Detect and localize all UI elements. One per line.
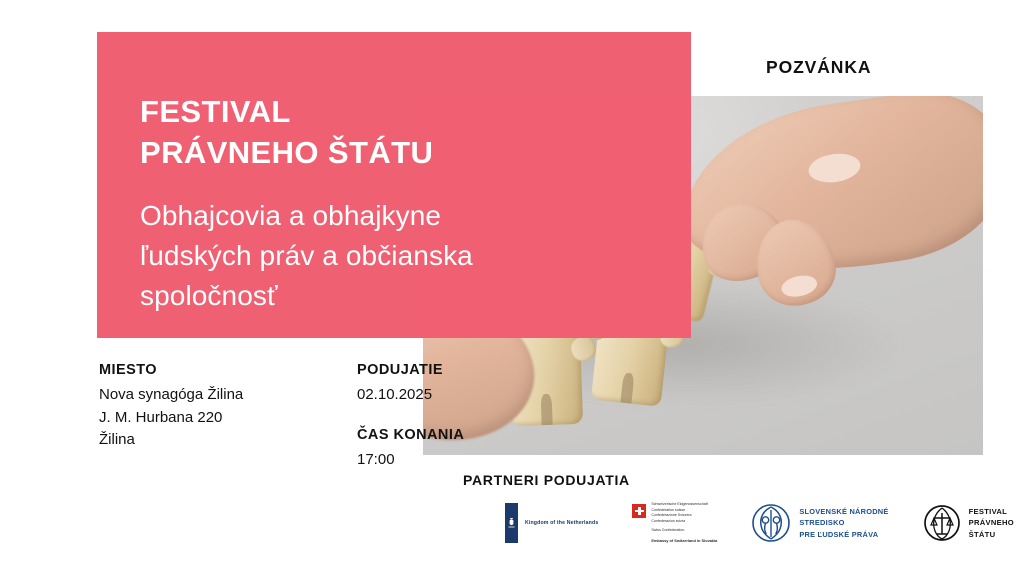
swiss-logo-text: Schweizerische Eidgenossenschaft Confédé… (651, 502, 717, 544)
detail-place-line-1: Nova synagóga Žilina (99, 384, 271, 407)
detail-event-label: PODUJATIE (357, 362, 529, 378)
snslp-line-2: STREDISKO (799, 517, 888, 528)
event-details: MIESTO Nova synagóga Žilina J. M. Hurban… (99, 362, 529, 471)
logo-festival-pravneho-statu: FESTIVAL PRÁVNEHO ŠTÁTU (923, 504, 1014, 542)
netherlands-logo-text: Kingdom of the Netherlands (525, 520, 598, 526)
event-subtitle: Obhajcovia a obhajkyne ľudských práv a o… (140, 196, 680, 317)
snslp-line-1: SLOVENSKÉ NÁRODNÉ (799, 506, 888, 517)
detail-time-value: 17:00 (357, 449, 529, 472)
festival-line-3: ŠTÁTU (969, 529, 1014, 540)
event-title-line-2: PRÁVNEHO ŠTÁTU (140, 133, 680, 174)
detail-place-line-2: J. M. Hurbana 220 (99, 407, 271, 430)
swiss-line-de: Schweizerische Eidgenossenschaft (651, 502, 717, 508)
event-subtitle-line-3: spoločnosť (140, 276, 680, 316)
scales-of-justice-icon (923, 504, 961, 542)
event-title: FESTIVAL PRÁVNEHO ŠTÁTU (140, 92, 680, 174)
detail-place-value: Nova synagóga Žilina J. M. Hurbana 220 Ž… (99, 384, 271, 452)
detail-event-value: 02.10.2025 (357, 384, 529, 407)
invitation-label: POZVÁNKA (766, 57, 871, 78)
festival-logo-text: FESTIVAL PRÁVNEHO ŠTÁTU (969, 506, 1014, 540)
detail-place-label: MIESTO (99, 362, 271, 378)
detail-spacer (357, 407, 529, 427)
headline-group: FESTIVAL PRÁVNEHO ŠTÁTU Obhajcovia a obh… (140, 92, 680, 317)
detail-date-time: PODUJATIE 02.10.2025 ČAS KONANIA 17:00 (357, 362, 529, 471)
swiss-cross-icon (632, 504, 646, 518)
logo-swiss-embassy: Schweizerische Eidgenossenschaft Confédé… (632, 502, 717, 544)
event-title-line-1: FESTIVAL (140, 92, 680, 133)
partners-logo-row: Kingdom of the Netherlands Schweizerisch… (505, 498, 1005, 548)
detail-time-label: ČAS KONANIA (357, 427, 529, 443)
netherlands-coat-of-arms-icon (505, 503, 518, 543)
detail-place-line-3: Žilina (99, 429, 271, 452)
detail-place: MIESTO Nova synagóga Žilina J. M. Hurban… (99, 362, 271, 471)
snslp-line-3: PRE ĽUDSKÉ PRÁVA (799, 529, 888, 540)
invitation-poster: POZVÁNKA (0, 0, 1024, 576)
snslp-logo-text: SLOVENSKÉ NÁRODNÉ STREDISKO PRE ĽUDSKÉ P… (799, 506, 888, 540)
logo-kingdom-of-the-netherlands: Kingdom of the Netherlands (505, 503, 598, 543)
partners-title: PARTNERI PODUJATIA (463, 472, 630, 488)
event-subtitle-line-1: Obhajcovia a obhajkyne (140, 196, 680, 236)
logo-slovak-national-centre-human-rights: SLOVENSKÉ NÁRODNÉ STREDISKO PRE ĽUDSKÉ P… (751, 503, 888, 543)
snslp-emblem-icon (751, 503, 791, 543)
event-subtitle-line-2: ľudských práv a občianska (140, 236, 680, 276)
festival-line-2: PRÁVNEHO (969, 517, 1014, 528)
festival-line-1: FESTIVAL (969, 506, 1014, 517)
swiss-line-embassy: Embassy of Switzerland in Slovakia (651, 538, 717, 544)
